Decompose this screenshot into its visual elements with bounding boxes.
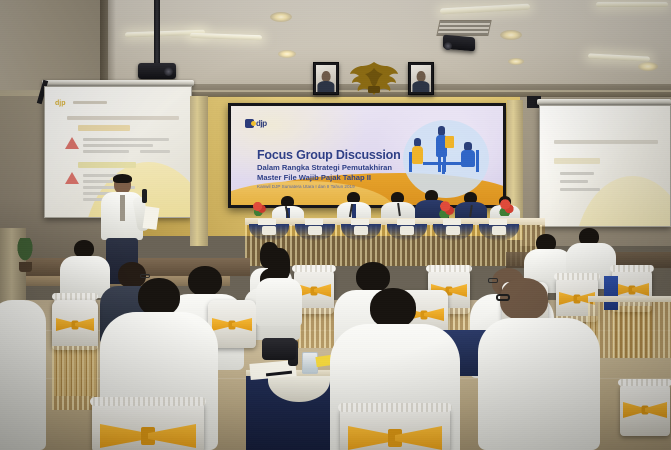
chair-ruffle	[90, 397, 206, 406]
slide-highlight-bar	[78, 162, 136, 168]
slide-text-line	[554, 140, 658, 144]
slide-highlight-bar	[78, 125, 130, 131]
sash-knot	[642, 406, 649, 415]
chair-sash-bow	[348, 426, 442, 450]
banner-subtitle-1: Dalam Rangka Strategi Pemutakhiran	[257, 163, 392, 172]
garuda-pancasila-emblem	[348, 58, 400, 98]
banquet-chair	[92, 400, 204, 450]
illustration-figure-seated	[412, 146, 423, 164]
chair-ruffle	[338, 403, 452, 412]
flower-arrangement	[252, 200, 266, 216]
chair-ruffle	[426, 265, 472, 272]
banner-caption: Kanwil DJP Sumatera Utara I dan II Tahun…	[257, 184, 355, 189]
flower-arrangement	[498, 198, 514, 216]
bag	[262, 338, 296, 360]
fluorescent-tube	[596, 2, 668, 7]
banner-subtitle-2: Master File Wajib Pajak Tahap II	[257, 173, 371, 182]
sash-knot	[72, 320, 79, 329]
wall-column	[190, 96, 208, 246]
slide-text-line	[560, 180, 588, 183]
warning-triangle-icon	[65, 172, 79, 184]
chair-sash-bow	[56, 318, 94, 331]
djp-logo-text: djp	[256, 119, 267, 128]
slide-text-line	[83, 144, 153, 147]
warning-triangle-icon	[65, 137, 79, 149]
chair-sash-bow	[615, 283, 649, 296]
projector-lens	[164, 67, 173, 76]
slide-text-line	[560, 172, 594, 175]
illustration-chair	[476, 150, 479, 172]
presenter-hair	[113, 174, 132, 183]
chair-sash-bow	[100, 424, 196, 448]
sash-knot	[421, 310, 428, 319]
illustration-chair	[409, 152, 412, 172]
name-card	[397, 219, 415, 225]
event-banner: djp Focus Group Discussion Dalam Rangka	[231, 106, 503, 205]
right-projection-screen	[539, 105, 671, 227]
slide-text-line	[140, 150, 170, 153]
sash-knot	[229, 320, 236, 329]
chair-sash-bow	[297, 284, 331, 297]
name-card	[258, 219, 276, 225]
name-card	[443, 219, 461, 225]
eyeglasses-icon	[496, 294, 510, 301]
banquet-chair	[52, 300, 98, 350]
slide-highlight-bar	[554, 158, 600, 164]
banquet-chair	[340, 406, 450, 450]
head-table	[245, 218, 545, 266]
name-card	[351, 219, 369, 225]
audience-shirt	[478, 318, 600, 450]
sash-knot	[141, 427, 155, 445]
sash-knot	[388, 429, 402, 447]
slide-text-line	[67, 116, 179, 120]
side-table-runner	[604, 276, 618, 310]
chair-sash-bow	[623, 402, 667, 418]
projector-lens	[444, 42, 452, 50]
recessed-downlight	[508, 58, 524, 65]
presenter-tie	[120, 195, 125, 221]
handheld-microphone	[142, 189, 147, 203]
air-conditioning-vent	[436, 20, 491, 36]
slide-text-line	[560, 188, 600, 191]
chair-sash-bow	[212, 318, 252, 331]
sash-knot	[574, 294, 581, 303]
slide-djp-logo: djp	[55, 100, 66, 107]
plant-pot	[19, 262, 32, 272]
djp-logo: djp	[245, 119, 267, 128]
audience-head	[268, 248, 290, 280]
portrait-body	[317, 81, 334, 92]
event-banner-frame: djp Focus Group Discussion Dalam Rangka	[228, 103, 506, 208]
chair-ruffle	[618, 379, 671, 386]
projector-mount-pole	[154, 0, 160, 66]
recessed-downlight	[270, 12, 292, 22]
illustration-table-leg	[442, 165, 445, 174]
illustration-figure-board	[445, 136, 454, 148]
name-card	[489, 219, 507, 225]
slide-text-line	[83, 150, 129, 153]
name-card	[305, 219, 323, 225]
banquet-chair	[620, 382, 670, 436]
chair-ruffle	[292, 265, 336, 272]
eyeglasses-icon	[140, 274, 150, 278]
vice-president-portrait	[408, 62, 434, 95]
audience-head	[188, 266, 222, 296]
chair-ruffle	[610, 265, 654, 272]
audience-shirt	[0, 300, 46, 450]
recessed-downlight	[278, 50, 296, 58]
slide-text-line	[83, 180, 113, 183]
portrait-body	[412, 81, 429, 92]
president-portrait	[313, 62, 339, 95]
sash-knot	[311, 286, 318, 295]
chair-ruffle	[554, 273, 600, 280]
recessed-downlight	[500, 30, 522, 40]
sash-knot	[629, 285, 636, 294]
portrait-image	[316, 65, 336, 92]
audience-shirt	[60, 256, 110, 298]
audience-head	[138, 278, 180, 316]
chair-ruffle	[52, 293, 98, 300]
side-table-top	[588, 296, 671, 302]
recessed-downlight	[638, 62, 658, 71]
banner-title: Focus Group Discussion	[257, 148, 401, 162]
portrait-image	[411, 65, 431, 92]
seminar-room-photo: djp	[0, 0, 671, 450]
audience-head	[370, 288, 416, 328]
audience-shirt	[256, 278, 302, 326]
audience-head	[356, 262, 390, 292]
side-table-skirt	[588, 300, 671, 358]
flower-arrangement	[438, 200, 454, 218]
djp-mark-icon	[245, 119, 254, 128]
eyeglasses-icon	[488, 278, 498, 283]
garuda-icon	[348, 58, 400, 98]
slide-text-line	[73, 101, 107, 104]
slide-text-line	[83, 138, 169, 141]
